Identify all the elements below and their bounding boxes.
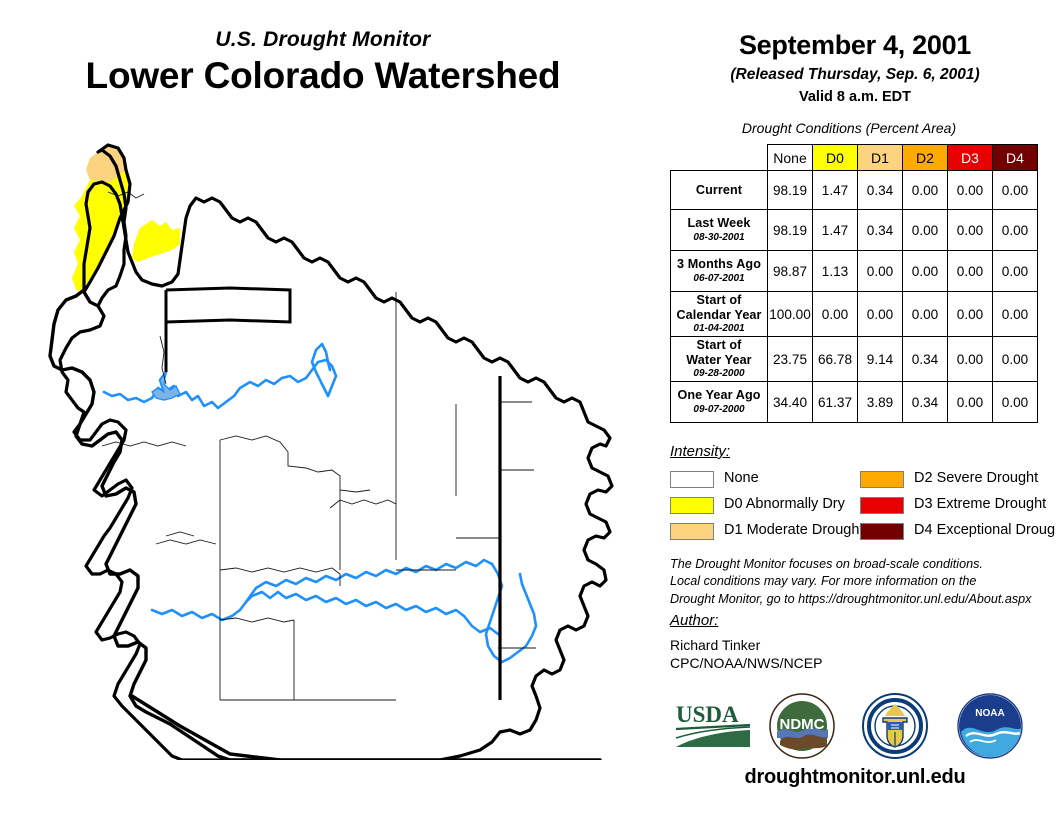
author-name: Richard Tinker bbox=[670, 637, 760, 653]
column-header-d0: D0 bbox=[813, 145, 858, 171]
table-header: None D0 D1 D2 D3 D4 bbox=[671, 145, 1038, 171]
legend-label-d1: D1 Moderate Drought bbox=[724, 522, 863, 538]
cell-d0: 1.13 bbox=[813, 251, 858, 292]
cell-d0: 1.47 bbox=[813, 171, 858, 210]
table-row: Start of Calendar Year 01-04-2001 100.00… bbox=[671, 292, 1038, 337]
cell-d4: 0.00 bbox=[993, 382, 1038, 423]
cell-none: 98.87 bbox=[768, 251, 813, 292]
cell-none: 98.19 bbox=[768, 171, 813, 210]
table-row: Last Week 08-30-2001 98.19 1.47 0.34 0.0… bbox=[671, 210, 1038, 251]
row-label-text: Current bbox=[671, 183, 767, 197]
cell-d4: 0.00 bbox=[993, 337, 1038, 382]
column-header-d2: D2 bbox=[903, 145, 948, 171]
noaa-logo-text: NOAA bbox=[975, 708, 1004, 719]
row-label-start-of-calendar-year: Start of Calendar Year 01-04-2001 bbox=[671, 292, 768, 337]
legend-swatch-d2 bbox=[860, 471, 904, 488]
cell-d3: 0.00 bbox=[948, 382, 993, 423]
cell-d2: 0.00 bbox=[903, 210, 948, 251]
map-border-southwest bbox=[132, 696, 280, 760]
header-spacer bbox=[671, 145, 768, 171]
row-label-one-year-ago: One Year Ago 09-07-2000 bbox=[671, 382, 768, 423]
usda-logo-svg: USDA bbox=[674, 700, 752, 752]
cell-d2: 0.00 bbox=[903, 171, 948, 210]
website-url[interactable]: droughtmonitor.unl.edu bbox=[660, 766, 1050, 789]
legend-label-none: None bbox=[724, 470, 759, 486]
cell-d1: 0.00 bbox=[858, 251, 903, 292]
row-label-3-months-ago: 3 Months Ago 06-07-2001 bbox=[671, 251, 768, 292]
map-county-heavy-north bbox=[166, 288, 290, 372]
note-line-2: Local conditions may vary. For more info… bbox=[670, 573, 1050, 590]
author-heading: Author: bbox=[670, 612, 718, 629]
table-row: Start of Water Year 09-28-2000 23.75 66.… bbox=[671, 337, 1038, 382]
drought-conditions-table: None D0 D1 D2 D3 D4 Current 98.19 1.47 0… bbox=[670, 144, 1038, 423]
cell-d3: 0.00 bbox=[948, 251, 993, 292]
table-caption: Drought Conditions (Percent Area) bbox=[660, 120, 1038, 136]
cell-d4: 0.00 bbox=[993, 210, 1038, 251]
legend-swatch-d0 bbox=[670, 497, 714, 514]
cell-d2: 0.00 bbox=[903, 292, 948, 337]
intensity-heading: Intensity: bbox=[670, 443, 730, 460]
map-county-heavy-north2 bbox=[166, 290, 290, 322]
logo-strip: USDA NDMC bbox=[668, 688, 1052, 760]
report-date: September 4, 2001 bbox=[660, 30, 1050, 61]
map-watershed-boundary-main bbox=[60, 182, 612, 760]
cell-d3: 0.00 bbox=[948, 171, 993, 210]
ndmc-logo-text: NDMC bbox=[780, 716, 825, 733]
row-label-date: 06-07-2001 bbox=[671, 273, 767, 285]
column-header-none: None bbox=[768, 145, 813, 171]
valid-time: Valid 8 a.m. EDT bbox=[660, 89, 1050, 105]
cell-d1: 0.34 bbox=[858, 210, 903, 251]
cell-d4: 0.00 bbox=[993, 251, 1038, 292]
table-row: Current 98.19 1.47 0.34 0.00 0.00 0.00 bbox=[671, 171, 1038, 210]
legend-swatch-d1 bbox=[670, 523, 714, 540]
usda-logo-text: USDA bbox=[676, 702, 739, 727]
note-line-3: Drought Monitor, go to https://droughtmo… bbox=[670, 591, 1050, 608]
cell-d2: 0.34 bbox=[903, 337, 948, 382]
cell-d1: 3.89 bbox=[858, 382, 903, 423]
ndmc-logo[interactable]: NDMC bbox=[768, 692, 836, 760]
legend-label-d2: D2 Severe Drought bbox=[914, 470, 1038, 486]
cell-d1: 0.00 bbox=[858, 292, 903, 337]
cell-d2: 0.00 bbox=[903, 251, 948, 292]
row-label-start-of-water-year: Start of Water Year 09-28-2000 bbox=[671, 337, 768, 382]
legend-swatch-d3 bbox=[860, 497, 904, 514]
map-lake-mead bbox=[152, 372, 180, 400]
program-title: U.S. Drought Monitor bbox=[0, 28, 646, 51]
commerce-seal-logo[interactable] bbox=[861, 692, 929, 760]
cell-d1: 9.14 bbox=[858, 337, 903, 382]
map-region-d0-east bbox=[132, 220, 180, 262]
noaa-logo[interactable]: NOAA bbox=[956, 692, 1024, 760]
table-body: Current 98.19 1.47 0.34 0.00 0.00 0.00 L… bbox=[671, 171, 1038, 423]
table-row: 3 Months Ago 06-07-2001 98.87 1.13 0.00 … bbox=[671, 251, 1038, 292]
row-label-current: Current bbox=[671, 171, 768, 210]
disclaimer-note: The Drought Monitor focuses on broad-sca… bbox=[670, 556, 1050, 608]
note-line-1: The Drought Monitor focuses on broad-sca… bbox=[670, 556, 1050, 573]
column-header-d3: D3 bbox=[948, 145, 993, 171]
right-panel: September 4, 2001 (Released Thursday, Se… bbox=[660, 0, 1056, 816]
cell-d3: 0.00 bbox=[948, 292, 993, 337]
cell-d0: 1.47 bbox=[813, 210, 858, 251]
row-label-text: Start of Water Year bbox=[671, 338, 767, 367]
released-date: (Released Thursday, Sep. 6, 2001) bbox=[660, 66, 1050, 84]
cell-d1: 0.34 bbox=[858, 171, 903, 210]
cell-d0: 61.37 bbox=[813, 382, 858, 423]
legend-label-d0: D0 Abnormally Dry bbox=[724, 496, 845, 512]
usda-logo[interactable]: USDA bbox=[674, 700, 752, 752]
row-label-date: 08-30-2001 bbox=[671, 232, 767, 244]
row-label-text: Last Week bbox=[671, 216, 767, 230]
cell-d2: 0.34 bbox=[903, 382, 948, 423]
column-header-d1: D1 bbox=[858, 145, 903, 171]
cell-none: 100.00 bbox=[768, 292, 813, 337]
row-label-date: 09-07-2000 bbox=[671, 404, 767, 416]
noaa-logo-svg: NOAA bbox=[956, 692, 1024, 760]
author-organization: CPC/NOAA/NWS/NCEP bbox=[670, 655, 822, 671]
watershed-map[interactable] bbox=[40, 140, 650, 760]
drought-monitor-page: U.S. Drought Monitor Lower Colorado Wate… bbox=[0, 0, 1056, 816]
row-label-last-week: Last Week 08-30-2001 bbox=[671, 210, 768, 251]
cell-d3: 0.00 bbox=[948, 337, 993, 382]
cell-d0: 66.78 bbox=[813, 337, 858, 382]
map-svg bbox=[40, 140, 650, 760]
cell-d3: 0.00 bbox=[948, 210, 993, 251]
commerce-seal-svg bbox=[861, 692, 929, 760]
cell-none: 98.19 bbox=[768, 210, 813, 251]
ndmc-logo-svg: NDMC bbox=[768, 692, 836, 760]
table-header-row: None D0 D1 D2 D3 D4 bbox=[671, 145, 1038, 171]
column-header-d4: D4 bbox=[993, 145, 1038, 171]
legend-label-d3: D3 Extreme Drought bbox=[914, 496, 1046, 512]
cell-d0: 0.00 bbox=[813, 292, 858, 337]
cell-none: 23.75 bbox=[768, 337, 813, 382]
legend-swatch-none bbox=[670, 471, 714, 488]
cell-d4: 0.00 bbox=[993, 292, 1038, 337]
row-label-text: 3 Months Ago bbox=[671, 257, 767, 271]
row-label-date: 01-04-2001 bbox=[671, 323, 767, 335]
table-row: One Year Ago 09-07-2000 34.40 61.37 3.89… bbox=[671, 382, 1038, 423]
page-title: Lower Colorado Watershed bbox=[0, 57, 646, 96]
title-block: U.S. Drought Monitor Lower Colorado Wate… bbox=[0, 28, 646, 96]
row-label-text: Start of Calendar Year bbox=[671, 293, 767, 322]
row-label-date: 09-28-2000 bbox=[671, 368, 767, 380]
cell-d4: 0.00 bbox=[993, 171, 1038, 210]
cell-none: 34.40 bbox=[768, 382, 813, 423]
legend-label-d4: D4 Exceptional Drought bbox=[914, 522, 1056, 538]
row-label-text: One Year Ago bbox=[671, 388, 767, 402]
legend-swatch-d4 bbox=[860, 523, 904, 540]
